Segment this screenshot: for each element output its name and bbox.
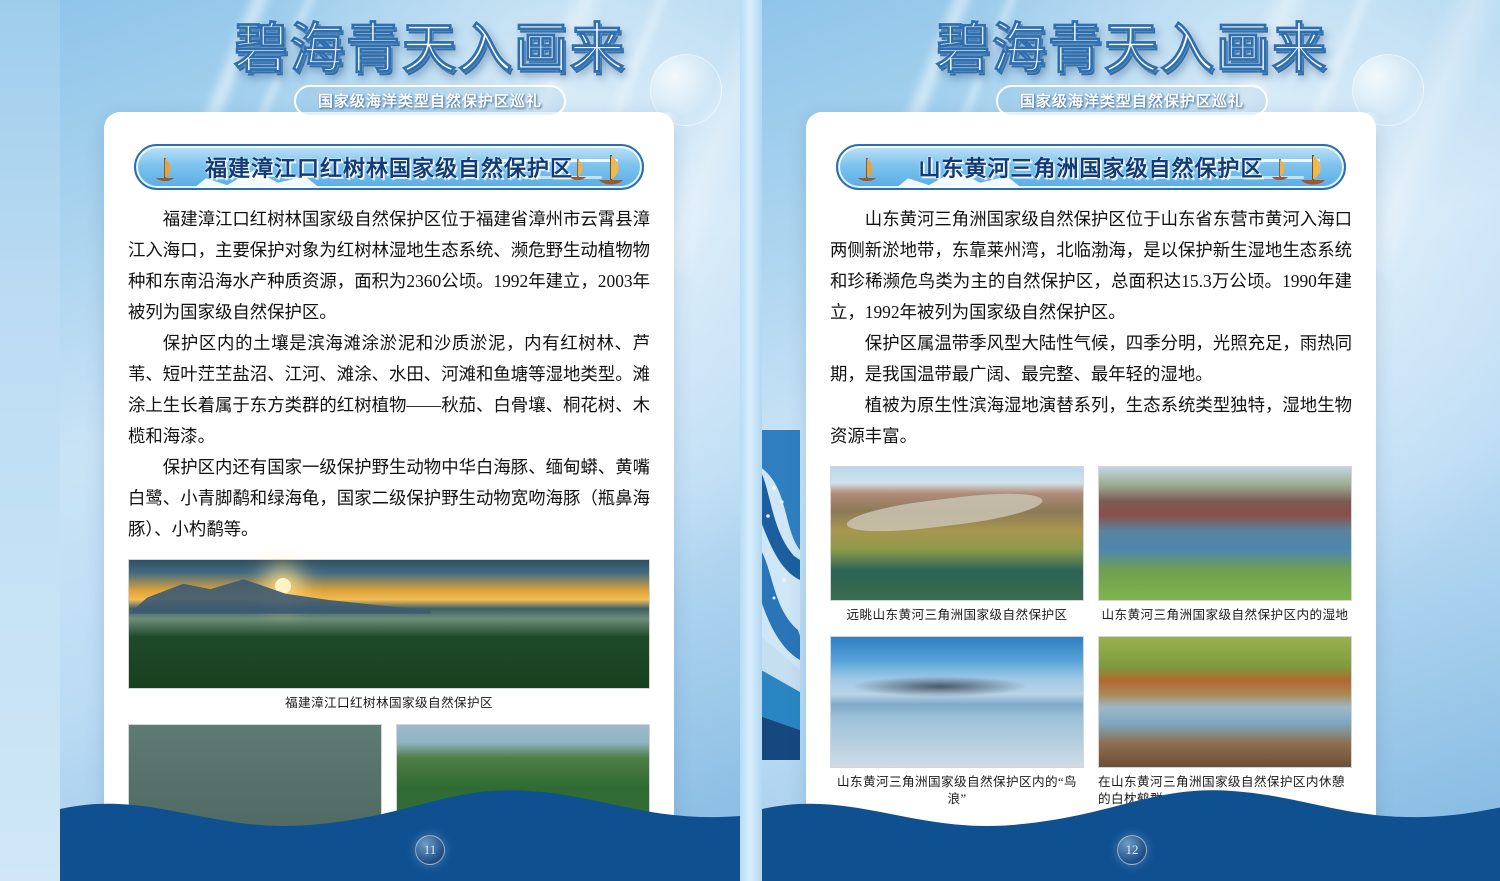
paragraph: 保护区内还有国家一级保护野生动物中华白海豚、缅甸蟒、黄嘴白鹭、小青脚鹬和绿海龟，…	[128, 452, 650, 545]
paragraph: 福建漳江口红树林国家级自然保护区位于福建省漳州市云霄县漳江入海口，主要保护对象为…	[128, 204, 650, 328]
figure: 山东黄河三角洲国家级自然保护区内的湿地	[1098, 466, 1352, 624]
photo-mangrove-sunrise	[128, 559, 650, 689]
spread-gutter	[740, 0, 762, 881]
paragraph: 山东黄河三角洲国家级自然保护区位于山东省东营市黄河入海口两侧新淤地带，东靠莱州湾…	[830, 204, 1352, 328]
paragraph: 保护区内的土壤是滨海滩涂淤泥和沙质淤泥，内有红树林、芦苇、短叶茳芏盐沼、江河、滩…	[128, 328, 650, 452]
sailboat-icon-right-small	[1270, 158, 1290, 182]
section-banner-title-right: 山东黄河三角洲国家级自然保护区	[918, 151, 1263, 183]
sailboat-icon-right-small	[568, 158, 588, 182]
page-number-left: 11	[415, 835, 445, 865]
photo-wetland	[1098, 466, 1352, 601]
article-card-right: 山东黄河三角洲国家级自然保护区 山东黄河三角洲国家级自然保护区位于山东省东营市黄…	[806, 112, 1376, 832]
masthead-title: 碧海青天入画来	[60, 4, 800, 83]
section-banner-left: 福建漳江口红树林国家级自然保护区	[134, 144, 644, 190]
masthead-left: 碧海青天入画来 国家级海洋类型自然保护区巡礼	[60, 0, 800, 104]
magazine-spread: 碧海青天入画来 国家级海洋类型自然保护区巡礼 福建漳江口红树林国家级自然保	[0, 0, 1500, 881]
figure: 远眺山东黄河三角洲国家级自然保护区	[830, 466, 1084, 624]
article-body-left: 福建漳江口红树林国家级自然保护区位于福建省漳州市云霄县漳江入海口，主要保护对象为…	[128, 204, 650, 545]
figure-wide: 福建漳江口红树林国家级自然保护区	[128, 559, 650, 712]
figure-caption: 远眺山东黄河三角洲国家级自然保护区	[830, 607, 1084, 624]
masthead-title: 碧海青天入画来	[762, 4, 1500, 83]
article-body-right: 山东黄河三角洲国家级自然保护区位于山东省东营市黄河入海口两侧新淤地带，东靠莱州湾…	[830, 204, 1352, 452]
sailboat-icon-right-large	[596, 153, 626, 187]
section-banner-title-left: 福建漳江口红树林国家级自然保护区	[205, 151, 573, 183]
page-number-right: 12	[1117, 835, 1147, 865]
sailboat-icon-left	[154, 157, 176, 183]
photo-bird-wave	[830, 636, 1084, 768]
section-banner-right: 山东黄河三角洲国家级自然保护区	[836, 144, 1346, 190]
masthead-subtitle: 国家级海洋类型自然保护区巡礼	[294, 85, 566, 117]
article-card-left: 福建漳江口红树林国家级自然保护区 福建漳江口红树林国家级自然保护区位于福建省漳州…	[104, 112, 674, 832]
masthead-right: 碧海青天入画来 国家级海洋类型自然保护区巡礼	[762, 0, 1500, 104]
sailboat-icon-left	[856, 157, 878, 183]
masthead-subtitle: 国家级海洋类型自然保护区巡礼	[996, 85, 1268, 117]
figures-right: 远眺山东黄河三角洲国家级自然保护区 山东黄河三角洲国家级自然保护区内的湿地 山东…	[830, 466, 1352, 808]
photo-white-naped-cranes	[1098, 636, 1352, 768]
page-right: 碧海青天入画来 国家级海洋类型自然保护区巡礼 山东黄河三角洲国家级自然保护	[762, 0, 1500, 881]
page-left: 碧海青天入画来 国家级海洋类型自然保护区巡礼 福建漳江口红树林国家级自然保	[60, 0, 800, 881]
sailboat-icon-right-large	[1298, 153, 1328, 187]
figure-caption: 福建漳江口红树林国家级自然保护区	[128, 695, 650, 712]
photo-delta-overview	[830, 466, 1084, 601]
paragraph: 保护区属温带季风型大陆性气候，四季分明，光照充足，雨热同期，是我国温带最广阔、最…	[830, 328, 1352, 390]
paragraph: 植被为原生性滨海湿地演替系列，生态系统类型独特，湿地生物资源丰富。	[830, 390, 1352, 452]
figure-caption: 山东黄河三角洲国家级自然保护区内的湿地	[1098, 607, 1352, 624]
